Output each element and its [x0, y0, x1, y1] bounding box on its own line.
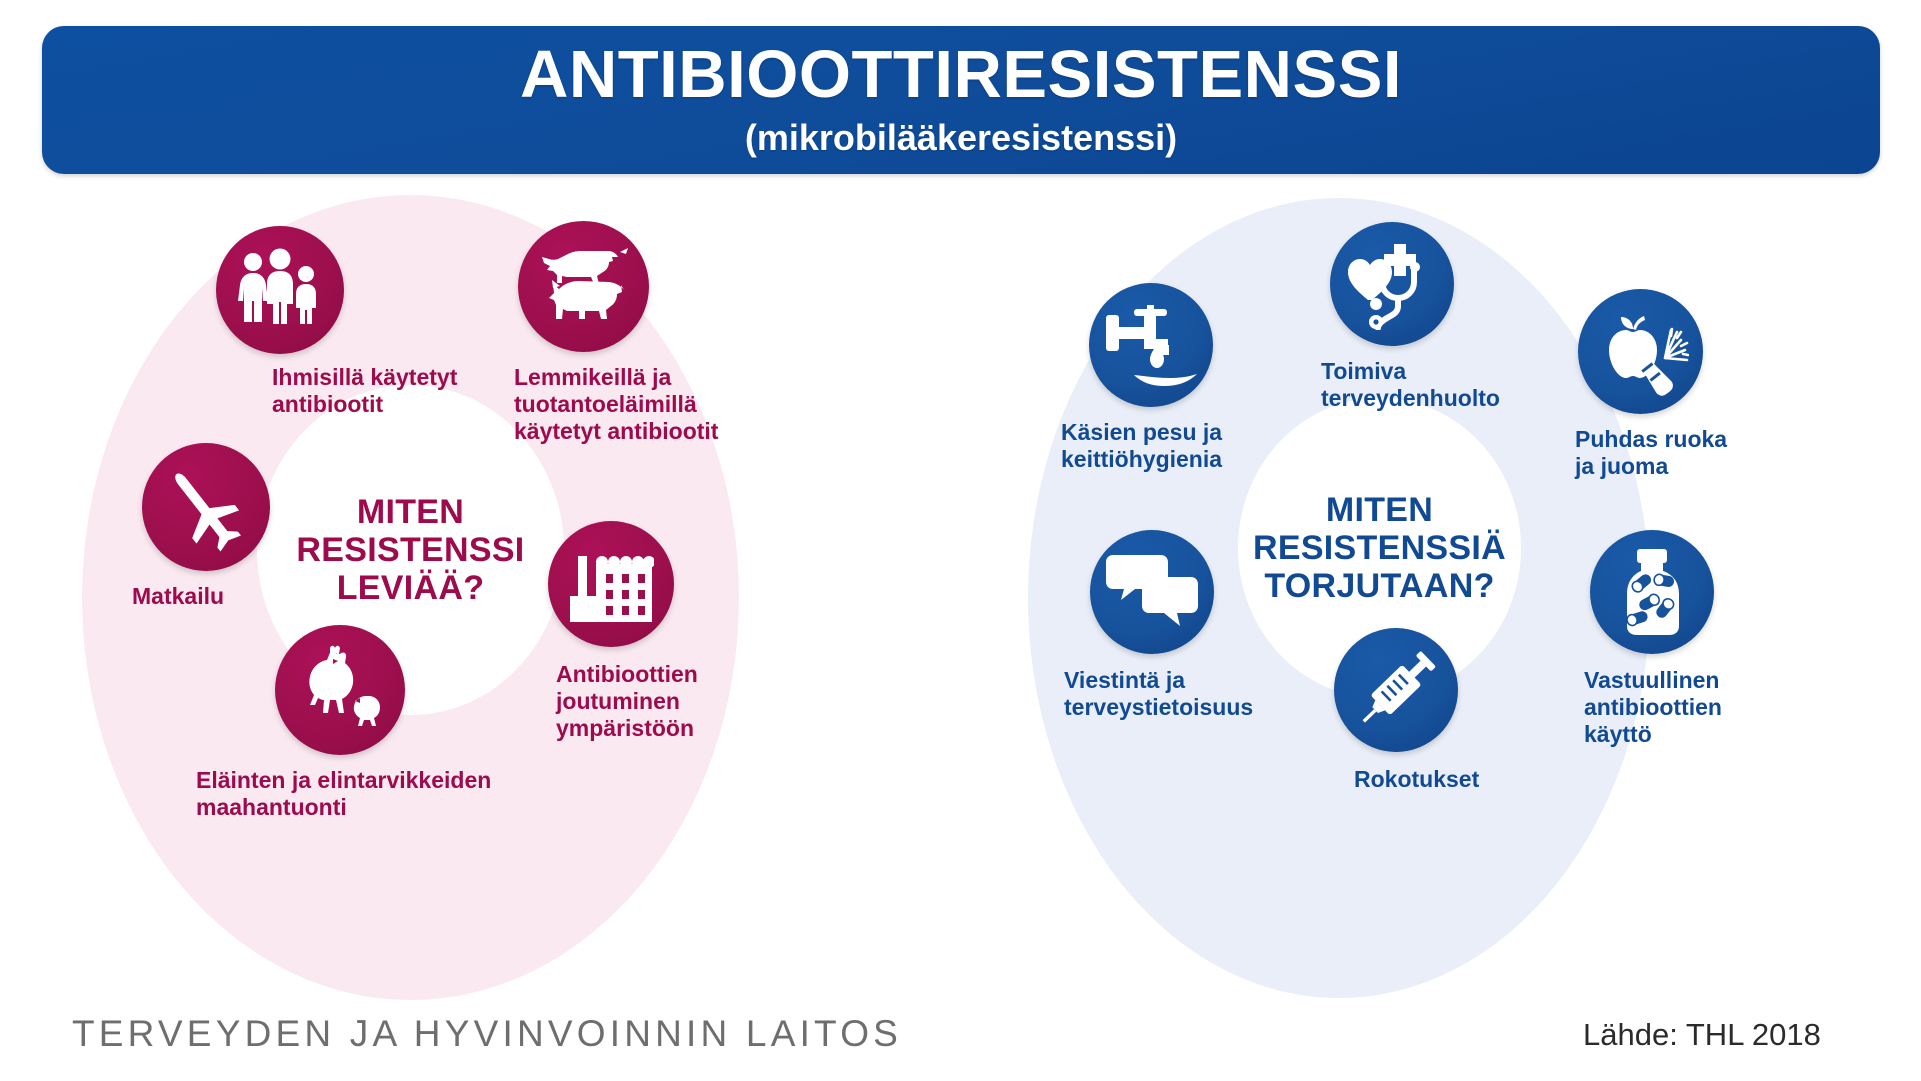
- node-human-antibiotics[interactable]: Ihmisillä käytetyt antibiootit: [216, 226, 344, 354]
- family-icon: [216, 226, 344, 354]
- node-label: Matkailu: [132, 583, 332, 610]
- node-vaccinations[interactable]: Rokotukset: [1334, 628, 1458, 752]
- node-label: Puhdas ruoka ja juoma: [1575, 426, 1775, 480]
- syringe-icon: [1334, 628, 1458, 752]
- pets-and-livestock-icon: [518, 221, 649, 352]
- node-animal-antibiotics[interactable]: Lemmikeillä ja tuotantoeläimillä käytety…: [518, 221, 649, 352]
- node-handwashing-and-kitchen-hygiene[interactable]: Käsien pesu ja keittiöhygienia: [1089, 283, 1213, 407]
- node-label: Lemmikeillä ja tuotantoeläimillä käytety…: [514, 364, 804, 445]
- node-label: Eläinten ja elintarvikkeiden maahantuont…: [196, 767, 596, 821]
- page-title: ANTIBIOOTTIRESISTENSSI: [520, 41, 1402, 109]
- infographic-canvas: ANTIBIOOTTIRESISTENSSI (mikrobilääkeresi…: [0, 0, 1921, 1081]
- node-label: Ihmisillä käytetyt antibiootit: [272, 364, 522, 418]
- healthcare-icon: [1330, 222, 1454, 346]
- header-banner: ANTIBIOOTTIRESISTENSSI (mikrobilääkeresi…: [42, 26, 1880, 174]
- node-label: Toimiva terveydenhuolto: [1321, 358, 1561, 412]
- speech-bubbles-icon: [1090, 530, 1214, 654]
- page-subtitle: (mikrobilääkeresistenssi): [745, 117, 1177, 159]
- node-communication-and-awareness[interactable]: Viestintä ja terveystietoisuus: [1090, 530, 1214, 654]
- node-antibiotics-in-environment[interactable]: Antibioottien joutuminen ympäristöön: [548, 521, 674, 647]
- airplane-icon: [142, 443, 270, 571]
- node-functioning-healthcare[interactable]: Toimiva terveydenhuolto: [1330, 222, 1454, 346]
- clean-food-icon: [1578, 289, 1703, 414]
- node-clean-food-and-water[interactable]: Puhdas ruoka ja juoma: [1578, 289, 1703, 414]
- right-wheel-center-label: MITEN RESISTENSSIÄ TORJUTAAN?: [1238, 491, 1521, 605]
- node-label: Viestintä ja terveystietoisuus: [1064, 667, 1324, 721]
- handwash-icon: [1089, 283, 1213, 407]
- pill-bottle-icon: [1590, 530, 1714, 654]
- organization-name: TERVEYDEN JA HYVINVOINNIN LAITOS: [72, 1013, 902, 1055]
- node-label: Käsien pesu ja keittiöhygienia: [1061, 419, 1301, 473]
- node-label: Antibioottien joutuminen ympäristöön: [556, 661, 786, 742]
- node-label: Vastuullinen antibioottien käyttö: [1584, 667, 1799, 748]
- node-travel[interactable]: Matkailu: [142, 443, 270, 571]
- node-label: Rokotukset: [1354, 766, 1554, 793]
- node-animal-food-imports[interactable]: Eläinten ja elintarvikkeiden maahantuont…: [275, 625, 405, 755]
- source-credit: Lähde: THL 2018: [1583, 1017, 1821, 1053]
- node-responsible-antibiotic-use[interactable]: Vastuullinen antibioottien käyttö: [1590, 530, 1714, 654]
- factory-icon: [548, 521, 674, 647]
- poultry-icon: [275, 625, 405, 755]
